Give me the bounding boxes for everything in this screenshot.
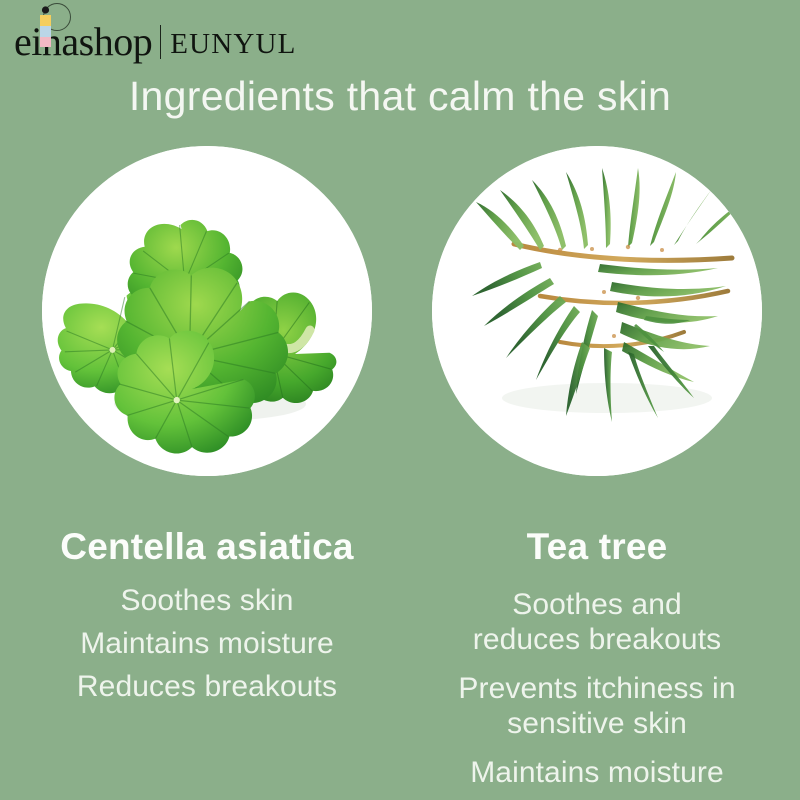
centella-asiatica-illustration	[42, 146, 372, 476]
sub-brand-name: EUNYUL	[170, 30, 296, 62]
brand-logo: einashop	[14, 22, 152, 62]
brand-divider	[160, 25, 161, 59]
brand-header: einashop EUNYUL	[14, 18, 297, 62]
ingredient-column-centella: Centella asiatica Soothes skin Maintains…	[22, 524, 392, 712]
tea-tree-illustration	[432, 146, 762, 476]
benefit-item: Soothes skin	[22, 583, 392, 618]
page-title: Ingredients that calm the skin	[0, 72, 800, 120]
ingredient-name-centella: Centella asiatica	[22, 524, 392, 569]
benefit-item: Maintains moisture	[22, 626, 392, 661]
promo-graphic: einashop EUNYUL Ingredients that calm th…	[0, 0, 800, 800]
ingredient-image-centella	[42, 146, 372, 476]
benefit-item: Reduces breakouts	[22, 669, 392, 704]
ingredient-image-tea-tree	[432, 146, 762, 476]
benefit-item: Maintains moisture	[412, 755, 782, 790]
benefit-item: Prevents itchiness insensitive skin	[412, 671, 782, 741]
benefit-item: Soothes andreduces breakouts	[412, 587, 782, 657]
ingredient-name-tea-tree: Tea tree	[412, 524, 782, 569]
ingredient-column-tea-tree: Tea tree Soothes andreduces breakouts Pr…	[412, 524, 782, 800]
brand-name: einashop	[14, 22, 152, 62]
